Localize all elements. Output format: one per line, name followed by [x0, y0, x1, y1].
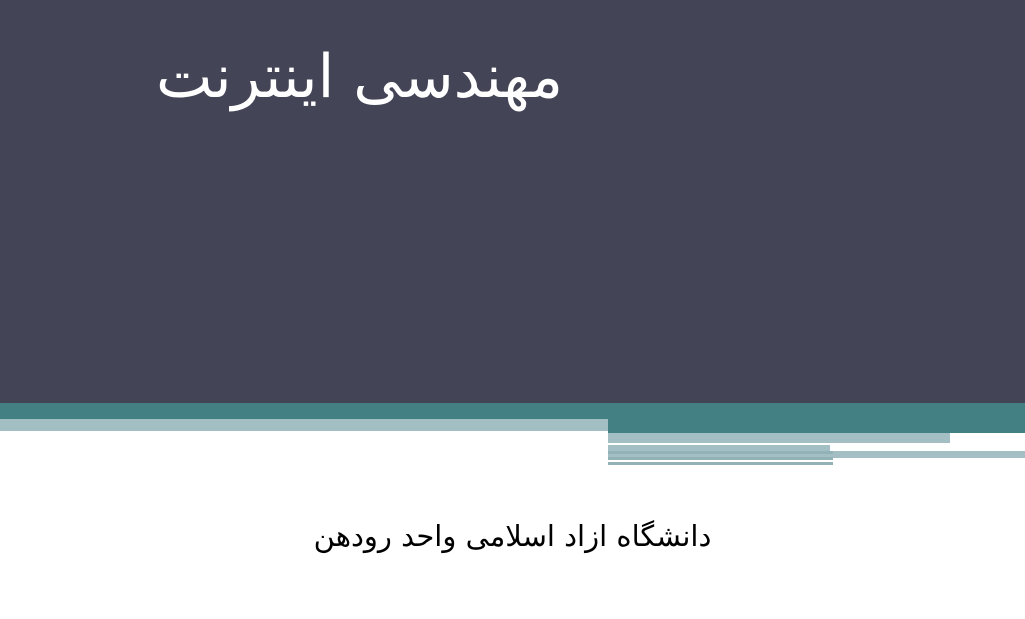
accent-hairline-3: [608, 462, 833, 465]
presentation-slide: مهندسی اینترنت میر شهریار امامی دانشگاه …: [0, 0, 1025, 619]
accent-bar-light-left: [0, 419, 608, 431]
title-block: مهندسی اینترنت میر شهریار امامی: [0, 44, 600, 198]
footer-block: دانشگاه ازاد اسلامی واحد رودهن: [0, 519, 1025, 553]
slide-subtitle: میر شهریار امامی: [0, 154, 600, 198]
institution-name: دانشگاه ازاد اسلامی واحد رودهن: [314, 519, 712, 553]
accent-bar-teal-left: [0, 403, 608, 419]
slide-title: مهندسی اینترنت: [0, 44, 600, 110]
accent-hairline-1: [608, 451, 833, 454]
accent-block-teal-right: [608, 403, 1025, 433]
accent-notch-2: [830, 445, 1025, 451]
accent-hairline-2: [608, 457, 833, 460]
accent-notch-1: [950, 433, 1025, 443]
